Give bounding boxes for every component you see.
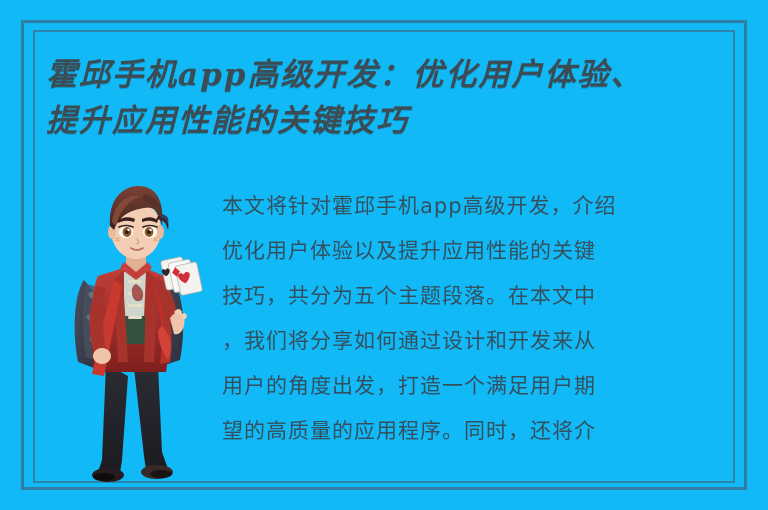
body-line-6: 望的高质量的应用程序。同时，还将介 — [222, 409, 734, 454]
poster-canvas: 霍邱手机app高级开发：优化用户体验、 提升应用性能的关键技巧 — [0, 0, 768, 510]
title-line-2: 提升应用性能的关键技巧 — [46, 98, 736, 144]
poster-body-text: 本文将针对霍邱手机app高级开发，介绍 优化用户体验以及提升应用性能的关键 技巧… — [222, 184, 734, 454]
poster-title: 霍邱手机app高级开发：优化用户体验、 提升应用性能的关键技巧 — [46, 52, 736, 144]
body-line-2: 优化用户体验以及提升应用性能的关键 — [222, 229, 734, 274]
character-illustration — [58, 176, 210, 484]
body-line-1: 本文将针对霍邱手机app高级开发，介绍 — [222, 184, 734, 229]
body-line-3: 技巧，共分为五个主题段落。在本文中 — [222, 274, 734, 319]
title-line-1: 霍邱手机app高级开发：优化用户体验、 — [46, 52, 736, 98]
body-line-5: 用户的角度出发，打造一个满足用户期 — [222, 364, 734, 409]
body-line-4: ，我们将分享如何通过设计和开发来从 — [222, 319, 734, 364]
anime-character-icon — [58, 176, 210, 484]
